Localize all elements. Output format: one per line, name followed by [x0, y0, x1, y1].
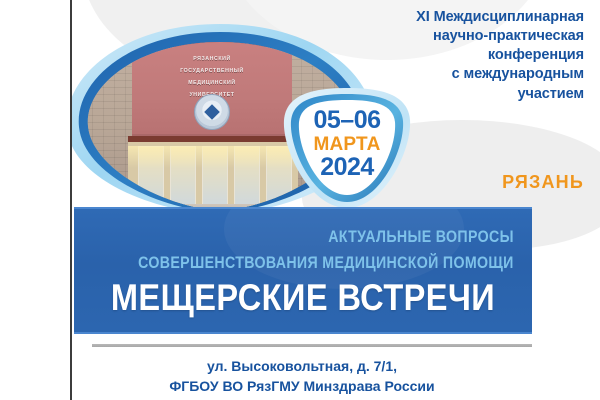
city-label: РЯЗАНЬ	[322, 172, 584, 193]
date-month: МАРТА	[280, 135, 414, 154]
poster-canvas: РЯЗАНСКИЙ ГОСУДАРСТВЕННЫЙ МЕДИЦИНСКИЙ УН…	[72, 0, 600, 400]
banner-subtitle-line-1: АКТУАЛЬНЫЕ ВОПРОСЫ	[328, 228, 514, 247]
address-line-2: ФГБОУ ВО РязГМУ Минздрава России	[72, 376, 532, 396]
footer-divider	[92, 344, 532, 347]
sign-line-3: МЕДИЦИНСКИЙ	[132, 80, 292, 86]
university-name-sign: РЯЗАНСКИЙ ГОСУДАРСТВЕННЫЙ МЕДИЦИНСКИЙ УН…	[132, 42, 292, 139]
conference-heading: XI Междисциплинарная научно-практическая…	[322, 8, 584, 104]
conference-poster: РЯЗАНСКИЙ ГОСУДАРСТВЕННЫЙ МЕДИЦИНСКИЙ УН…	[0, 0, 600, 400]
building-entrance	[128, 136, 298, 214]
sign-line-2: ГОСУДАРСТВЕННЫЙ	[132, 68, 292, 74]
left-margin	[0, 0, 70, 400]
conference-title: МЕЩЕРСКИЕ ВСТРЕЧИ	[101, 279, 504, 316]
banner-subtitle-line-2: СОВЕРШЕНСТВОВАНИЯ МЕДИЦИНСКОЙ ПОМОЩИ	[138, 254, 514, 273]
venue-address: ул. Высоковольтная, д. 7/1, ФГБОУ ВО Ряз…	[72, 356, 532, 397]
heading-line-4: с международным	[322, 65, 584, 84]
left-border-rule	[70, 0, 72, 400]
heading-line-1: XI Междисциплинарная	[322, 8, 584, 27]
university-emblem-icon	[194, 94, 230, 130]
heading-line-3: конференция	[322, 46, 584, 65]
sign-line-1: РЯЗАНСКИЙ	[132, 56, 292, 62]
heading-line-2: научно-практическая	[322, 27, 584, 46]
flag-icon	[194, 14, 201, 44]
title-banner: АКТУАЛЬНЫЕ ВОПРОСЫ СОВЕРШЕНСТВОВАНИЯ МЕД…	[74, 207, 532, 334]
address-line-1: ул. Высоковольтная, д. 7/1,	[72, 356, 532, 376]
heading-line-5: участием	[322, 85, 584, 104]
date-days: 05–06	[280, 108, 414, 133]
